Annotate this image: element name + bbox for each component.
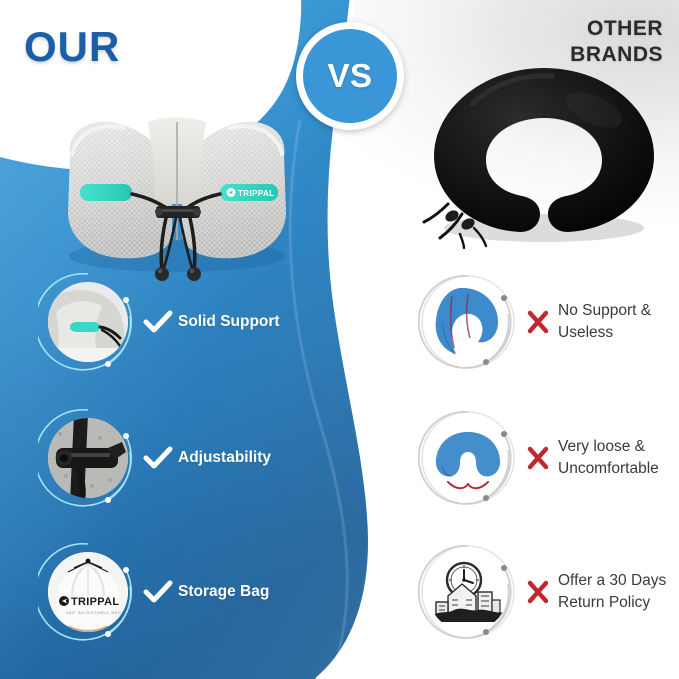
other-feature-row-no-support: No Support & Useless [418,272,651,372]
other-feature-row-return-policy: Offer a 30 Days Return Policy [418,542,666,642]
thumb-ring-5 [418,408,518,508]
other-brands-title: OTHER BRANDS [570,16,663,67]
thumb-ring-3 [38,542,138,642]
thumb-ring-2 [38,408,138,508]
our-feature-label-2: Adjustability [178,447,271,469]
our-feature-row-adjustability: Adjustability [38,408,271,508]
other-feature-label-1: No Support & Useless [558,300,651,345]
comparison-infographic: TRIPPAL [0,0,679,679]
our-title: OUR [24,26,120,68]
thumb-ring-6 [418,542,518,642]
our-feature-label-1: Solid Support [178,311,280,333]
other-feature-label-1-line1: No Support & [558,300,651,322]
other-feature-row-very-loose: Very loose & Uncomfortable [418,408,659,508]
thumb-ring-4 [418,272,518,372]
other-brands-title-line1: OTHER [570,16,663,42]
cross-icon [518,580,558,604]
our-feature-row-solid-support: Solid Support [38,272,280,372]
vs-label: VS [327,57,372,95]
other-feature-label-3-line1: Offer a 30 Days [558,570,666,592]
other-feature-thumb-wrap-2 [418,408,518,508]
other-feature-label-2: Very loose & Uncomfortable [558,436,659,481]
cross-icon [518,310,558,334]
check-icon [138,446,178,470]
other-brands-title-line2: BRANDS [570,42,663,68]
other-feature-thumb-wrap-3 [418,542,518,642]
our-product-hero-image: TRIPPAL [52,108,302,288]
our-feature-thumb-wrap-1 [38,272,138,372]
our-feature-thumb-wrap-2 [38,408,138,508]
our-feature-label-3: Storage Bag [178,581,269,603]
vs-badge: VS [296,22,404,130]
check-icon [138,580,178,604]
thumb-ring-1 [38,272,138,372]
svg-text:TRIPPAL: TRIPPAL [238,189,274,198]
cross-icon [518,446,558,470]
other-feature-label-3-line2: Return Policy [558,592,666,614]
our-feature-row-storage-bag: TRIPPAL 360° ADJUSTABLE NECK SUPPORT Sto… [38,542,269,642]
other-feature-thumb-wrap-1 [418,272,518,372]
other-feature-label-1-line2: Useless [558,322,651,344]
check-icon [138,310,178,334]
other-feature-label-3: Offer a 30 Days Return Policy [558,570,666,615]
other-feature-label-2-line2: Uncomfortable [558,458,659,480]
our-feature-thumb-wrap-3: TRIPPAL 360° ADJUSTABLE NECK SUPPORT [38,542,138,642]
other-product-hero-image [418,52,668,252]
other-feature-label-2-line1: Very loose & [558,436,659,458]
